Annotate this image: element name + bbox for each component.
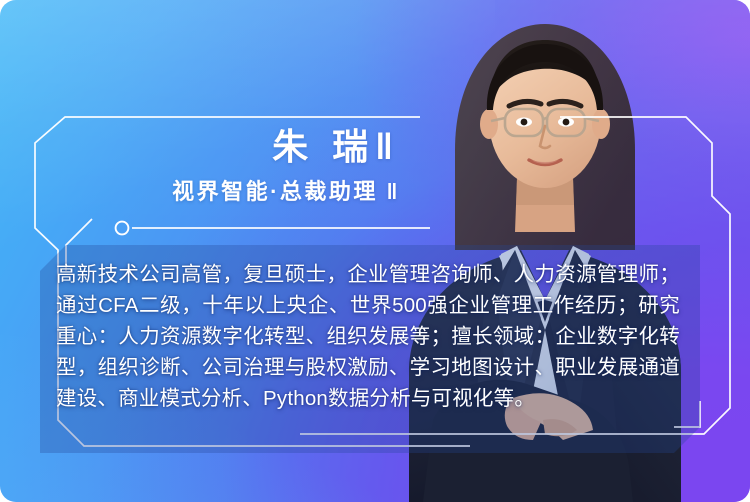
person-subtitle: 视界智能·总裁助理 ‖ — [0, 179, 400, 205]
person-name: 朱 瑞‖ — [0, 126, 400, 167]
person-bio: 高新技术公司高管，复旦硕士，企业管理咨询师、人力资源管理师；通过CFA二级，十年… — [40, 245, 680, 453]
person-name-mark: ‖ — [375, 126, 400, 167]
person-subtitle-text: 视界智能·总裁助理 — [172, 179, 378, 204]
identity-block: 朱 瑞‖ 视界智能·总裁助理 ‖ — [0, 126, 400, 206]
person-subtitle-mark: ‖ — [387, 179, 400, 204]
profile-card: 朱 瑞‖ 视界智能·总裁助理 ‖ 高新技术公司高管，复旦硕士，企业管理咨询师、人… — [0, 0, 750, 502]
person-name-text: 朱 瑞 — [272, 126, 375, 167]
